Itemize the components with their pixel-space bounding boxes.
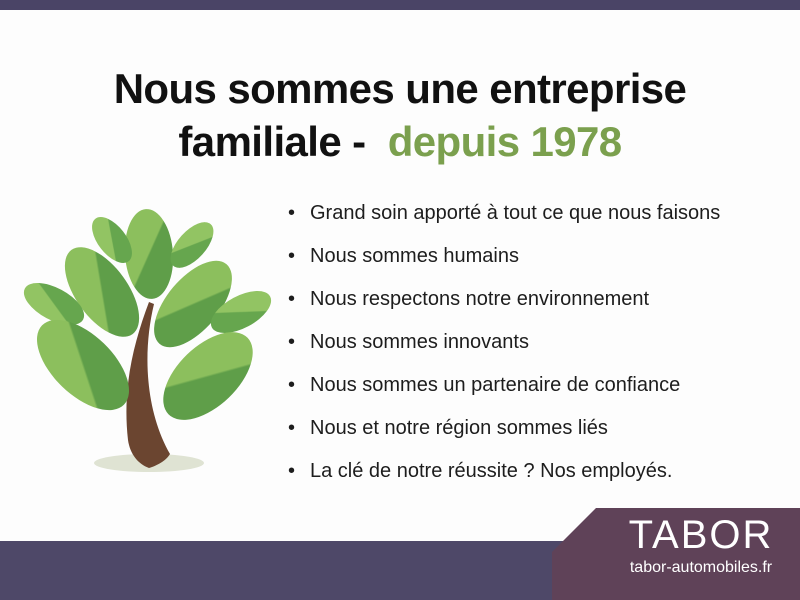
list-item: •Nous sommes un partenaire de confiance xyxy=(286,364,786,407)
bullet-marker: • xyxy=(288,278,295,321)
bullet-marker: • xyxy=(288,321,295,364)
list-item: •Nous et notre région sommes liés xyxy=(286,407,786,450)
logo-tagline: tabor-automobiles.fr xyxy=(606,558,796,578)
slide-canvas: Nous sommes une entreprisefamiliale - de… xyxy=(0,0,800,600)
list-item-label: Grand soin apporté à tout ce que nous fa… xyxy=(310,202,720,224)
headline-line-1: Nous sommes une entreprise xyxy=(114,65,687,112)
bullet-marker: • xyxy=(288,235,295,278)
brand-logo[interactable]: TABOR tabor-automobiles.fr xyxy=(552,508,800,600)
benefits-list: •Grand soin apporté à tout ce que nous f… xyxy=(286,192,786,493)
bullet-marker: • xyxy=(288,407,295,450)
page-title: Nous sommes une entreprisefamiliale - de… xyxy=(40,62,760,168)
list-item: •Nous sommes innovants xyxy=(286,321,786,364)
list-item: •Grand soin apporté à tout ce que nous f… xyxy=(286,192,786,235)
bullet-marker: • xyxy=(288,450,295,493)
tree-illustration xyxy=(18,182,280,482)
headline-line-2-plain: familiale - xyxy=(178,118,387,165)
list-item-label: Nous et notre région sommes liés xyxy=(310,417,608,439)
top-accent-band xyxy=(0,0,800,10)
list-item-label: Nous sommes humains xyxy=(310,245,519,267)
list-item-label: La clé de notre réussite ? Nos employés. xyxy=(310,460,672,482)
bullet-marker: • xyxy=(288,192,295,235)
list-item-label: Nous respectons notre environnement xyxy=(310,288,649,310)
list-item-label: Nous sommes un partenaire de confiance xyxy=(310,374,680,396)
logo-wordmark: TABOR xyxy=(606,512,796,558)
headline-line-2-accent: depuis 1978 xyxy=(388,118,622,165)
list-item: •La clé de notre réussite ? Nos employés… xyxy=(286,450,786,493)
bullet-marker: • xyxy=(288,364,295,407)
list-item-label: Nous sommes innovants xyxy=(310,331,529,353)
list-item: •Nous respectons notre environnement xyxy=(286,278,786,321)
list-item: •Nous sommes humains xyxy=(286,235,786,278)
